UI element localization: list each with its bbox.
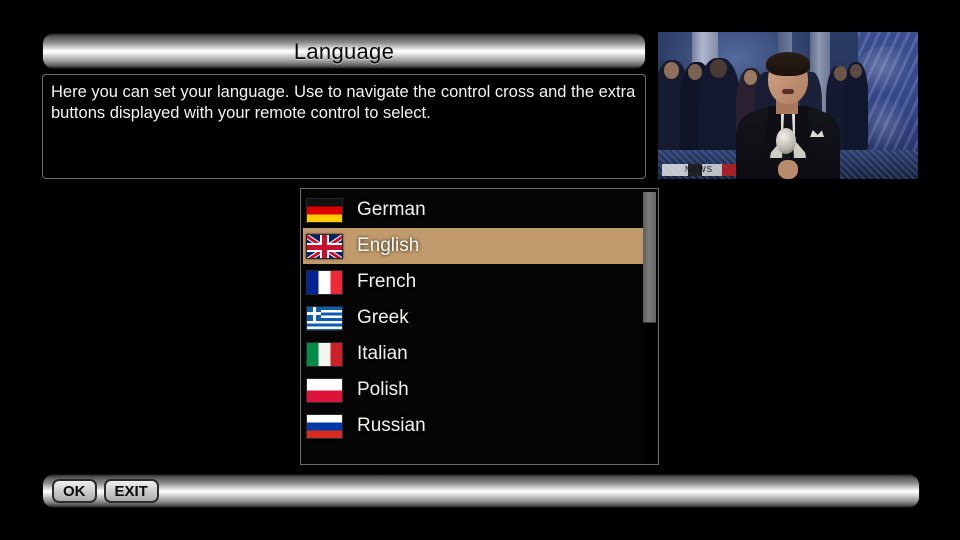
footer-buttons: OK EXIT bbox=[52, 479, 159, 503]
crowd-head bbox=[664, 62, 679, 79]
footer-bar bbox=[42, 474, 920, 508]
flag-russia-icon bbox=[306, 414, 343, 439]
microphone-icon bbox=[776, 128, 796, 154]
video-preview[interactable]: NEWS bbox=[658, 32, 918, 179]
crowd-head bbox=[688, 64, 702, 80]
crowd-head bbox=[834, 66, 847, 81]
flag-germany-icon bbox=[306, 198, 343, 223]
ok-button[interactable]: OK bbox=[52, 479, 97, 503]
list-item-french[interactable]: French bbox=[303, 264, 643, 300]
reporter-mouth bbox=[782, 89, 794, 94]
description-text: Here you can set your language. Use to n… bbox=[51, 82, 639, 124]
reporter-eye-right bbox=[793, 72, 800, 75]
title-bar: Language bbox=[42, 33, 646, 69]
reporter-eye-left bbox=[777, 72, 784, 75]
page-title: Language bbox=[43, 34, 645, 70]
list-item-german[interactable]: German bbox=[303, 192, 643, 228]
list-item-greek[interactable]: Greek bbox=[303, 300, 643, 336]
crowd-head bbox=[744, 70, 757, 85]
crowd-head bbox=[850, 64, 862, 78]
channel-logo-text: NEWS bbox=[662, 164, 736, 176]
tv-settings-screen: Language Here you can set your language.… bbox=[0, 0, 960, 540]
venue-relief-highlight-bottom bbox=[862, 98, 912, 154]
crowd-head bbox=[710, 59, 727, 78]
reporter-hair bbox=[766, 52, 810, 76]
language-label: English bbox=[357, 235, 419, 257]
language-list: German English French Greek bbox=[303, 192, 643, 444]
flag-italy-icon bbox=[306, 342, 343, 367]
list-scrollbar-thumb[interactable] bbox=[643, 192, 656, 323]
list-scrollbar-track[interactable] bbox=[643, 192, 656, 463]
language-list-panel[interactable]: German English French Greek bbox=[300, 188, 659, 465]
language-label: French bbox=[357, 271, 416, 293]
list-item-russian[interactable]: Russian bbox=[303, 408, 643, 444]
language-label: German bbox=[357, 199, 426, 221]
description-box: Here you can set your language. Use to n… bbox=[42, 74, 646, 179]
list-item-polish[interactable]: Polish bbox=[303, 372, 643, 408]
list-item-italian[interactable]: Italian bbox=[303, 336, 643, 372]
exit-button[interactable]: EXIT bbox=[104, 479, 159, 503]
flag-poland-icon bbox=[306, 378, 343, 403]
flag-united-kingdom-icon bbox=[306, 234, 343, 259]
language-label: Russian bbox=[357, 415, 426, 437]
flag-france-icon bbox=[306, 270, 343, 295]
flag-greece-icon bbox=[306, 306, 343, 331]
language-label: Italian bbox=[357, 343, 408, 365]
language-label: Greek bbox=[357, 307, 409, 329]
reporter-hand bbox=[778, 160, 798, 179]
language-label: Polish bbox=[357, 379, 409, 401]
list-item-english[interactable]: English bbox=[303, 228, 643, 264]
